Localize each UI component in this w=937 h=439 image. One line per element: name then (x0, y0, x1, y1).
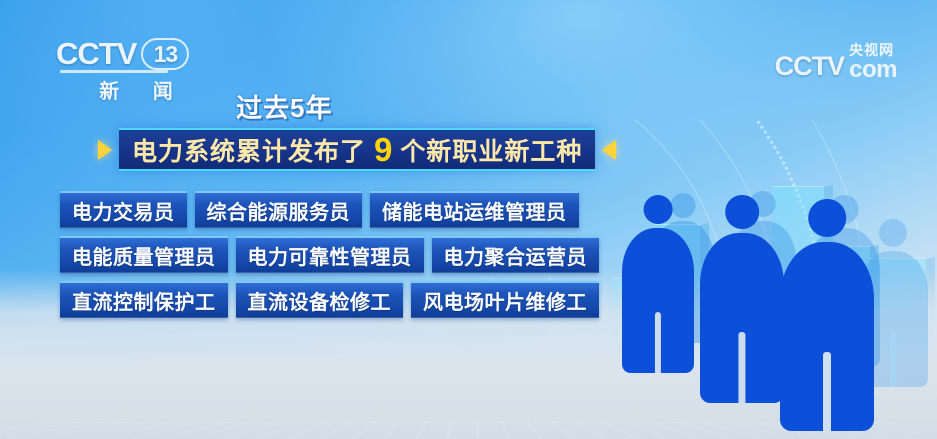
tag-item[interactable]: 直流控制保护工 (60, 281, 228, 318)
banner-suffix: 个新职业新工种 (400, 132, 582, 168)
tag-item[interactable]: 直流设备检修工 (236, 281, 404, 318)
people-pictogram-group (612, 150, 937, 439)
news-graphic-stage: CCTV 13 新 闻 CCTV 央视网 com 过去5年 电力系统累计发布了 … (0, 0, 937, 439)
cctv-com-wordmark: CCTV (775, 51, 845, 82)
tag-item[interactable]: 风电场叶片维修工 (411, 281, 599, 318)
cctv13-underline (60, 70, 168, 73)
person-leg-gap (655, 312, 661, 373)
cctv13-wordmark: CCTV (56, 36, 136, 72)
person-head (644, 195, 673, 224)
cctv-com-logo: CCTV 央视网 com (775, 40, 897, 82)
tag-item[interactable]: 储能电站运维管理员 (370, 191, 579, 228)
person-head (879, 219, 907, 247)
person-leg-gap (890, 330, 896, 387)
tag-item[interactable]: 电力交易员 (60, 191, 187, 228)
arrow-left-marker-icon (98, 140, 112, 160)
headline-banner: 电力系统累计发布了 9 个新职业新工种 (119, 128, 595, 171)
cctv13-number: 13 (141, 38, 189, 70)
person-pictogram-icon (622, 195, 694, 373)
banner-prefix: 电力系统累计发布了 (132, 132, 366, 168)
person-head (808, 199, 846, 237)
cctv13-subtitle: 新 闻 (56, 75, 216, 104)
tag-item[interactable]: 电力聚合运营员 (432, 236, 600, 273)
person-leg-gap (823, 352, 831, 431)
arrow-right-marker-icon (602, 140, 616, 160)
tag-item[interactable]: 综合能源服务员 (195, 191, 363, 228)
cctv-com-chinese: 央视网 (849, 43, 894, 57)
banner-number: 9 (372, 133, 394, 166)
headline-kicker: 过去5年 (236, 88, 332, 125)
tag-item[interactable]: 电能质量管理员 (60, 236, 228, 273)
tag-row-2: 电能质量管理员 电力可靠性管理员 电力聚合运营员 (60, 236, 599, 273)
tag-row-1: 电力交易员 综合能源服务员 储能电站运维管理员 (60, 191, 599, 228)
headline-banner-wrap: 电力系统累计发布了 9 个新职业新工种 (98, 128, 616, 171)
tag-row-3: 直流控制保护工 直流设备检修工 风电场叶片维修工 (60, 281, 599, 318)
person-leg-gap (738, 332, 745, 403)
cctv13-channel-logo: CCTV 13 新 闻 (56, 36, 216, 98)
person-pictogram-icon (700, 195, 784, 403)
tag-item[interactable]: 电力可靠性管理员 (236, 236, 424, 273)
cctv-com-tld: com (849, 58, 897, 82)
person-pictogram-icon (780, 199, 874, 431)
cctv13-mark: CCTV 13 (56, 36, 216, 72)
new-occupation-tag-grid: 电力交易员 综合能源服务员 储能电站运维管理员 电能质量管理员 电力可靠性管理员… (60, 191, 599, 318)
person-head (725, 195, 759, 229)
